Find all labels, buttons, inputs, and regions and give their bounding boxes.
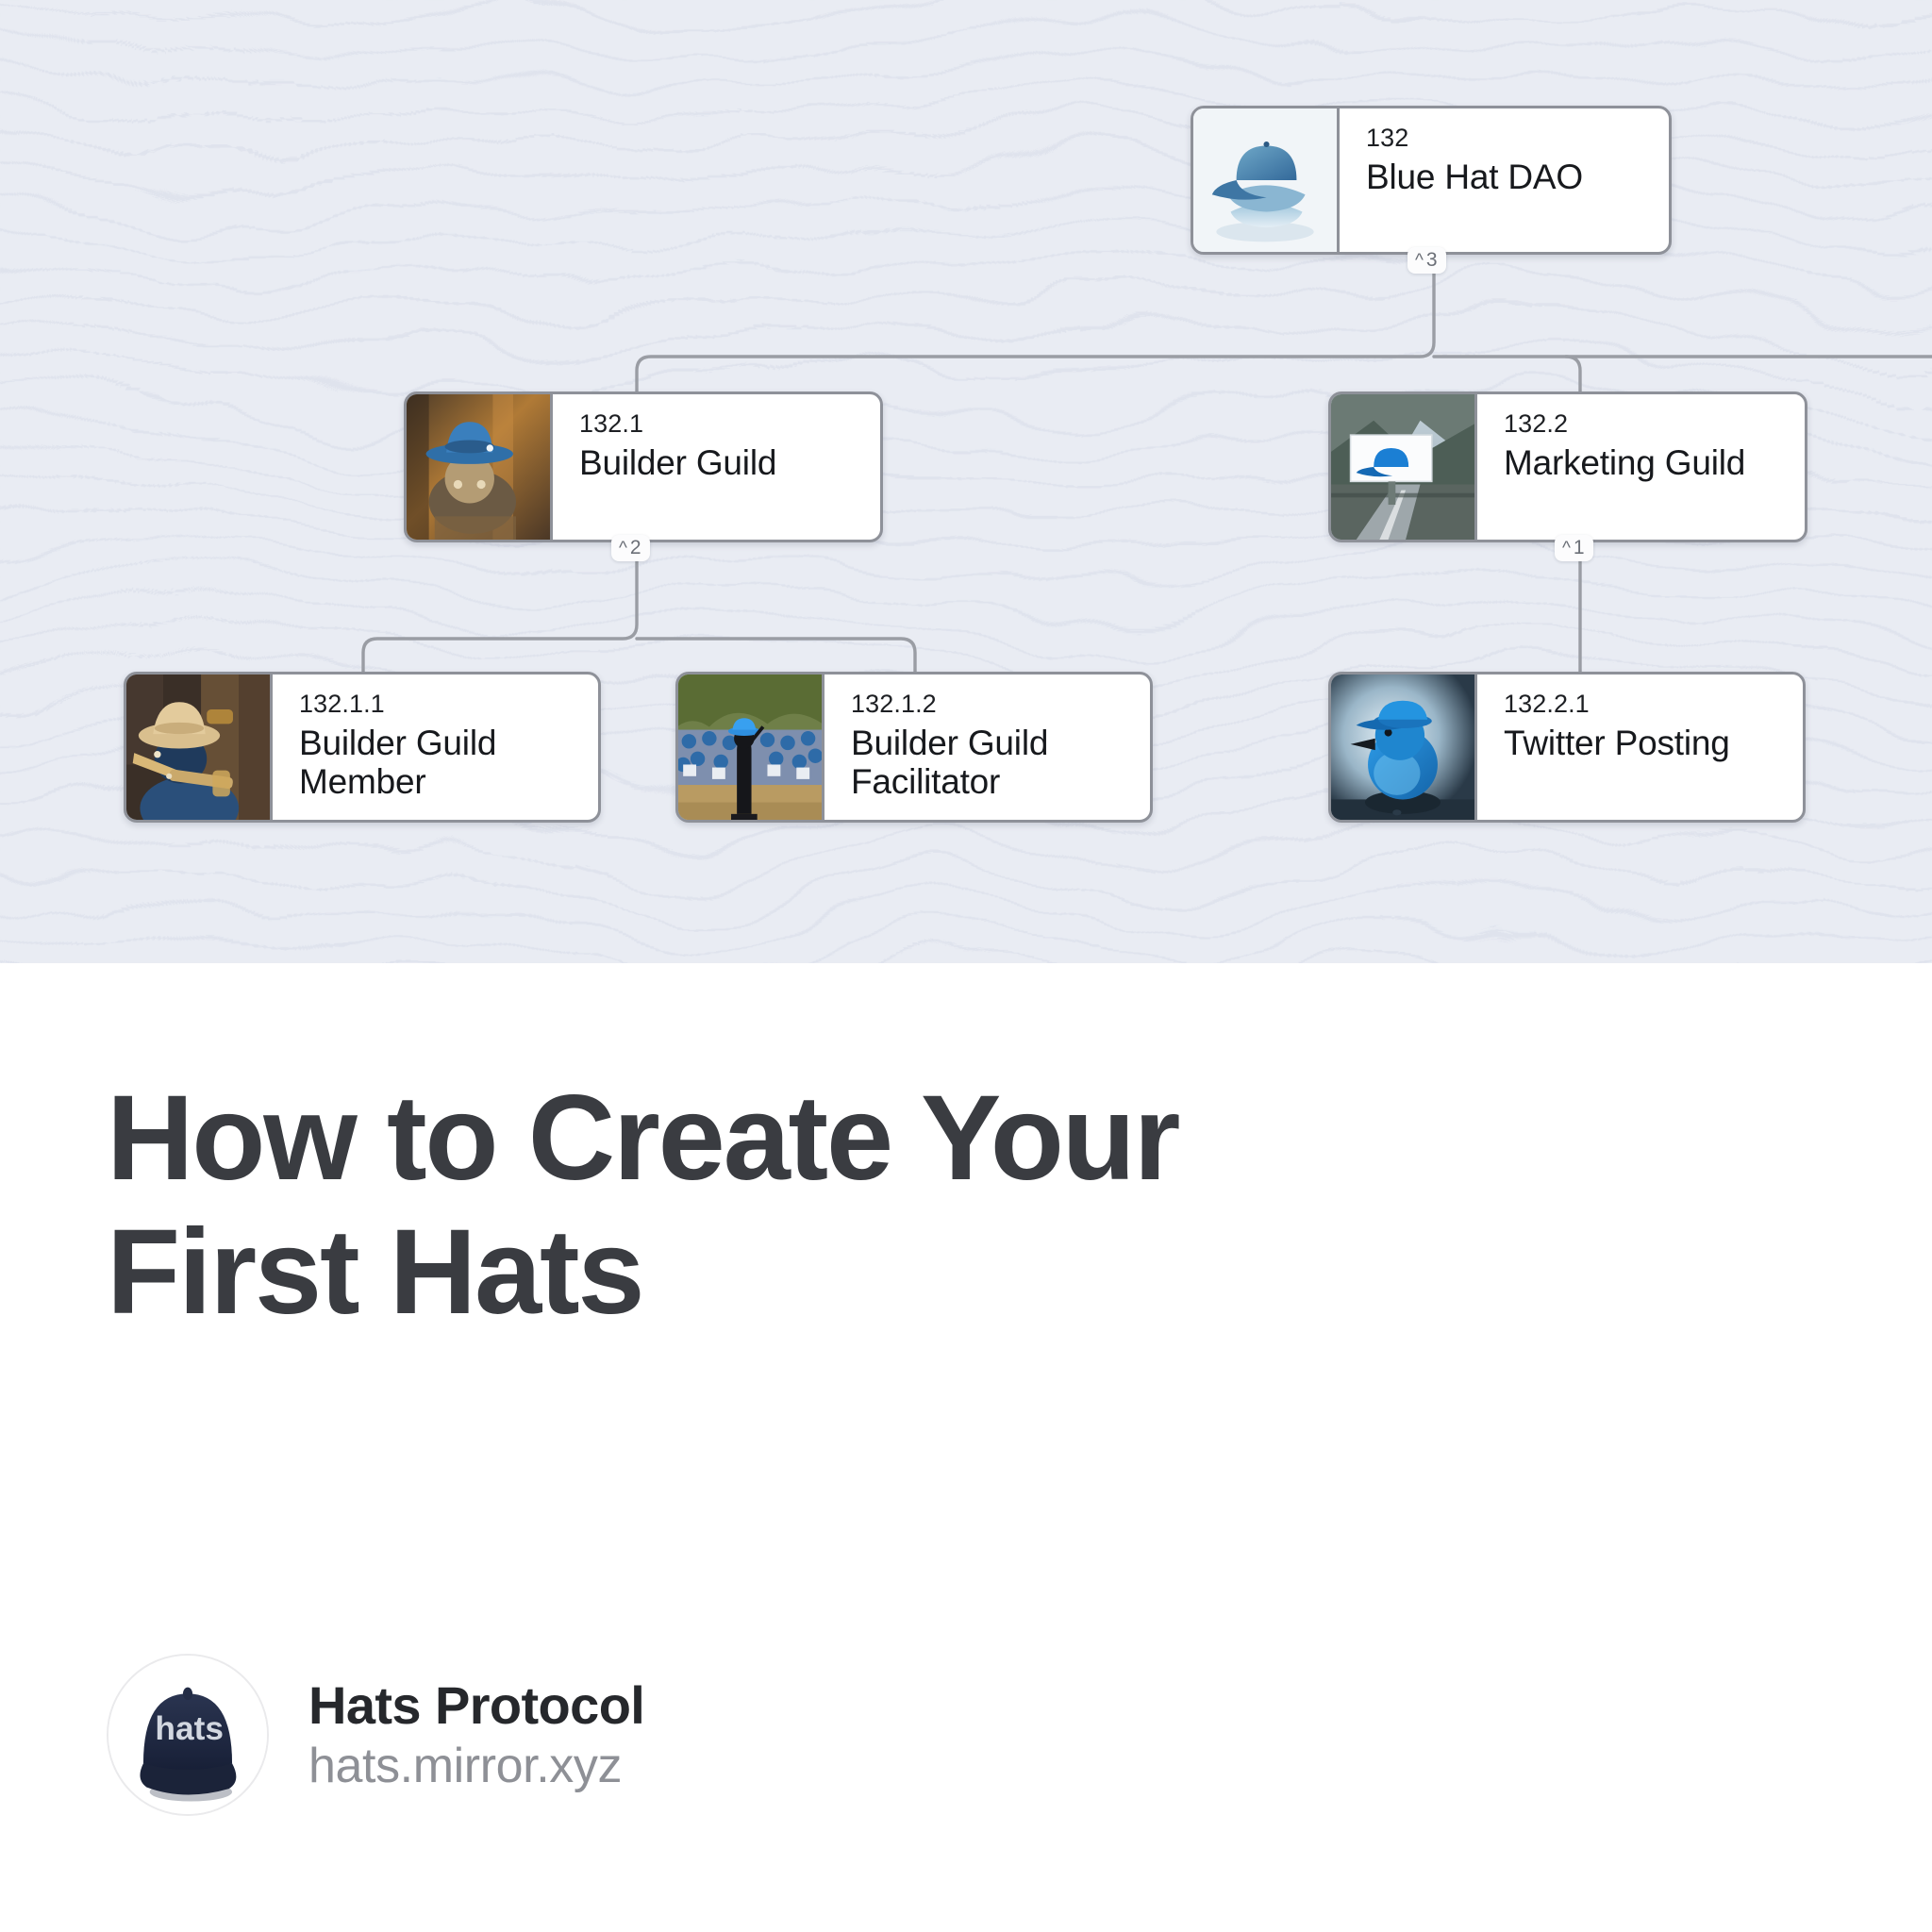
node-badge-children-count-marketing-guild[interactable]: ^ 1 bbox=[1555, 535, 1593, 561]
node-badge-children-count-builder-guild[interactable]: ^ 2 bbox=[611, 535, 650, 561]
node-thumbnail-conductor-before-crowd bbox=[678, 675, 824, 820]
node-text-block: 132.1.2 Builder Guild Facilitator bbox=[824, 675, 1150, 820]
svg-text:hats: hats bbox=[155, 1710, 224, 1747]
node-title: Builder Guild Facilitator bbox=[851, 724, 1150, 802]
byline[interactable]: hats Hats Protocol hats.mirror.xyz bbox=[107, 1654, 644, 1816]
chevron-up-icon: ^ bbox=[619, 540, 627, 558]
article-card-lower-section: How to Create Your First Hats hats Hats … bbox=[0, 963, 1932, 1932]
avatar: hats bbox=[107, 1654, 269, 1816]
badge-count: 1 bbox=[1574, 538, 1585, 558]
node-thumbnail-stack-of-blue-caps bbox=[1193, 108, 1340, 252]
node-thumbnail-billboard-blue-cap bbox=[1331, 394, 1477, 540]
node-text-block: 132.2.1 Twitter Posting bbox=[1477, 675, 1803, 820]
node-thumbnail-blue-bird-with-cap bbox=[1331, 675, 1477, 820]
tree-node-builder-guild-facilitator[interactable]: 132.1.2 Builder Guild Facilitator bbox=[675, 672, 1153, 823]
tree-node-blue-hat-dao[interactable]: 132 Blue Hat DAO bbox=[1191, 106, 1672, 255]
chevron-up-icon: ^ bbox=[1415, 252, 1424, 270]
publication-url[interactable]: hats.mirror.xyz bbox=[308, 1741, 644, 1791]
tree-node-builder-guild-member[interactable]: 132.1.1 Builder Guild Member bbox=[124, 672, 601, 823]
tree-node-twitter-posting[interactable]: 132.2.1 Twitter Posting bbox=[1328, 672, 1806, 823]
tree-node-marketing-guild[interactable]: 132.2 Marketing Guild bbox=[1328, 391, 1807, 542]
byline-text: Hats Protocol hats.mirror.xyz bbox=[308, 1678, 644, 1791]
node-id: 132.1.1 bbox=[299, 690, 598, 720]
headline-line-1: How to Create Your bbox=[107, 1072, 1635, 1206]
node-text-block: 132.2 Marketing Guild bbox=[1477, 394, 1805, 540]
node-title: Marketing Guild bbox=[1504, 443, 1805, 482]
node-thumbnail-character-in-straw-hat bbox=[126, 675, 273, 820]
page-title: How to Create Your First Hats bbox=[107, 1072, 1635, 1340]
node-title: Blue Hat DAO bbox=[1366, 158, 1669, 196]
publication-name: Hats Protocol bbox=[308, 1678, 644, 1732]
node-id: 132 bbox=[1366, 124, 1669, 154]
chevron-up-icon: ^ bbox=[1562, 540, 1571, 558]
hats-tree-diagram: 132 Blue Hat DAO ^ 3 bbox=[0, 0, 1932, 963]
tree-node-builder-guild[interactable]: 132.1 Builder Guild bbox=[404, 391, 883, 542]
badge-count: 2 bbox=[630, 538, 641, 558]
node-id: 132.2.1 bbox=[1504, 690, 1803, 720]
node-title: Builder Guild Member bbox=[299, 724, 598, 802]
node-badge-children-count-root[interactable]: ^ 3 bbox=[1407, 247, 1446, 274]
node-text-block: 132.1.1 Builder Guild Member bbox=[273, 675, 598, 820]
node-id: 132.1 bbox=[579, 409, 880, 440]
node-title: Twitter Posting bbox=[1504, 724, 1803, 762]
headline-line-2: First Hats bbox=[107, 1206, 1635, 1340]
node-text-block: 132 Blue Hat DAO bbox=[1340, 108, 1669, 252]
node-id: 132.1.2 bbox=[851, 690, 1150, 720]
node-id: 132.2 bbox=[1504, 409, 1805, 440]
node-thumbnail-robot-in-blue-fedora bbox=[407, 394, 553, 540]
badge-count: 3 bbox=[1426, 250, 1438, 270]
node-text-block: 132.1 Builder Guild bbox=[553, 394, 880, 540]
hero-diagram-banner: 132 Blue Hat DAO ^ 3 bbox=[0, 0, 1932, 963]
node-title: Builder Guild bbox=[579, 443, 880, 482]
